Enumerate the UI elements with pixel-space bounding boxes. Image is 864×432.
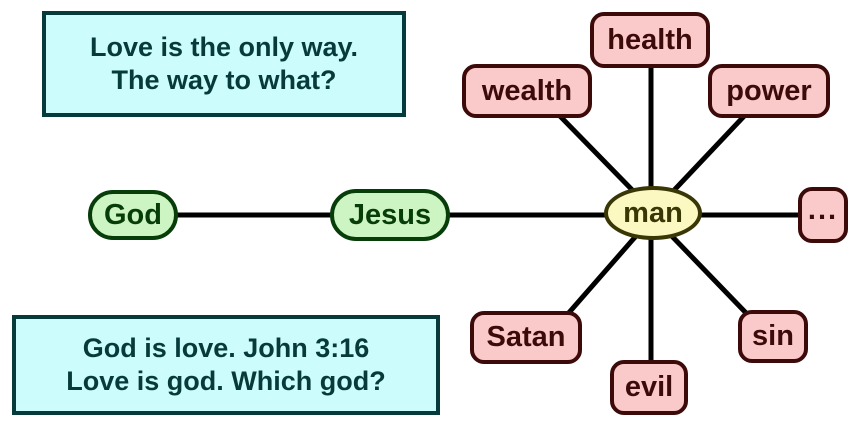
edge-man-satan [566,228,643,316]
node-etc-label: ... [808,196,838,225]
node-jesus-label: Jesus [349,201,431,230]
node-satan-label: Satan [487,323,566,352]
node-health[interactable]: health [590,12,710,68]
node-jesus[interactable]: Jesus [330,189,450,241]
node-god-label: God [104,201,162,230]
node-wealth[interactable]: wealth [462,64,592,118]
node-wealth-label: wealth [482,77,572,106]
edge-man-sin [664,228,748,315]
node-sin-label: sin [752,322,794,351]
node-man-label: man [623,199,683,228]
bottom-callout-line-1: God is love. John 3:16 [83,332,370,365]
node-sin[interactable]: sin [738,310,808,363]
node-god[interactable]: God [88,190,178,240]
node-evil[interactable]: evil [610,360,688,415]
top-callout: Love is the only way. The way to what? [42,11,406,117]
diagram-canvas: Love is the only way. The way to what? G… [0,0,864,432]
node-satan[interactable]: Satan [470,311,582,364]
top-callout-line-2: The way to what? [111,64,336,97]
top-callout-line-1: Love is the only way. [90,31,358,64]
node-man[interactable]: man [604,186,702,240]
bottom-callout: God is love. John 3:16 Love is god. Whic… [12,315,440,415]
node-power[interactable]: power [708,64,830,118]
node-etc[interactable]: ... [798,187,848,243]
node-health-label: health [607,26,692,55]
node-power-label: power [726,77,811,106]
node-evil-label: evil [625,373,673,402]
bottom-callout-line-2: Love is god. Which god? [66,365,385,398]
